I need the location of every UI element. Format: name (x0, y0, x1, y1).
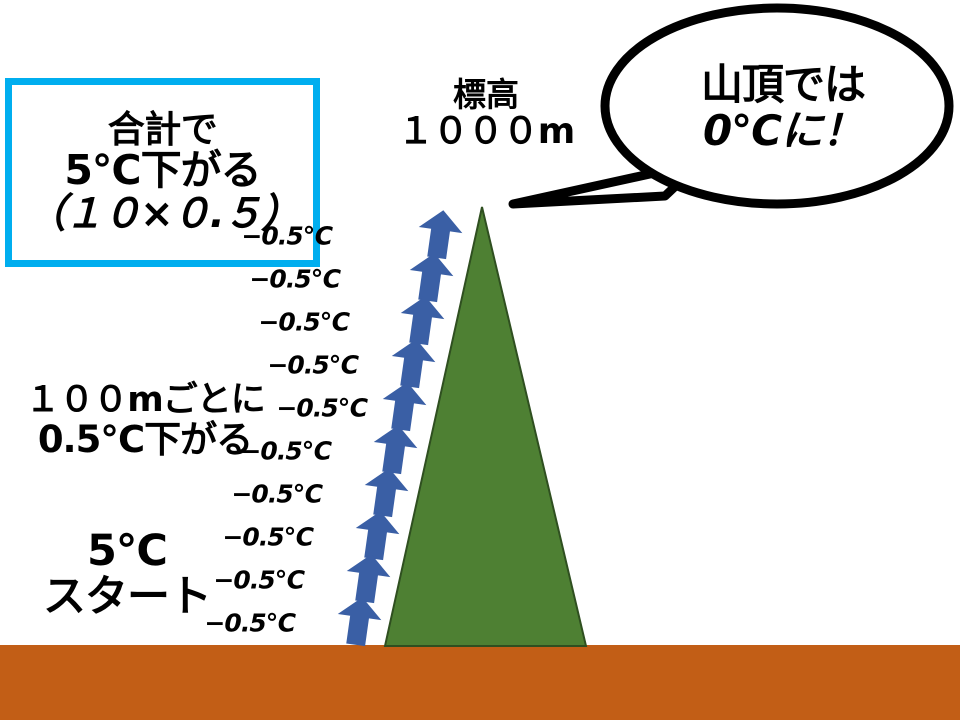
speech-bubble-line-2: 0℃に！ (648, 108, 918, 154)
step-temperature-label: −0.5℃ (241, 222, 332, 251)
temperature-drop-arrow (361, 465, 411, 519)
temperature-drop-arrow (352, 508, 402, 562)
lapse-rate-line-1: １００mごとに (6, 382, 284, 420)
start-temperature-line-1: 5℃ (8, 528, 246, 574)
temperature-drop-arrow (397, 293, 447, 347)
summary-line-1: 合計で (108, 110, 218, 149)
step-temperature-label: −0.5℃ (204, 609, 295, 638)
speech-bubble-text: 山頂では 0℃に！ (648, 62, 918, 154)
step-temperature-label: −0.5℃ (240, 437, 331, 466)
temperature-drop-arrow (415, 207, 465, 261)
speech-bubble-line-1: 山頂では (648, 62, 918, 108)
diagram-canvas: 合計で 5℃下がる （１０×０.５） １００mごとに 0.5℃下がる 5℃ スタ… (0, 0, 960, 720)
temperature-drop-arrow (406, 250, 456, 304)
temperature-drop-arrow (370, 422, 420, 476)
step-temperature-label: −0.5℃ (213, 566, 304, 595)
step-temperature-label: −0.5℃ (258, 308, 349, 337)
mountain-shape (385, 207, 586, 646)
step-temperature-label: −0.5℃ (267, 351, 358, 380)
step-temperature-label: −0.5℃ (276, 394, 367, 423)
altitude-line-1: 標高 (376, 78, 596, 113)
start-temperature-caption: 5℃ スタート (8, 528, 246, 621)
step-temperature-label: −0.5℃ (222, 523, 313, 552)
altitude-label: 標高 １０００m (376, 78, 596, 151)
step-temperature-label: −0.5℃ (231, 480, 322, 509)
summary-line-2: 5℃下がる (64, 149, 260, 192)
temperature-drop-arrow (334, 594, 384, 648)
temperature-drop-arrow (343, 551, 393, 605)
temperature-drop-arrow (379, 379, 429, 433)
altitude-line-2: １０００m (376, 113, 596, 151)
temperature-drop-arrow (388, 336, 438, 390)
step-temperature-label: −0.5℃ (249, 265, 340, 294)
